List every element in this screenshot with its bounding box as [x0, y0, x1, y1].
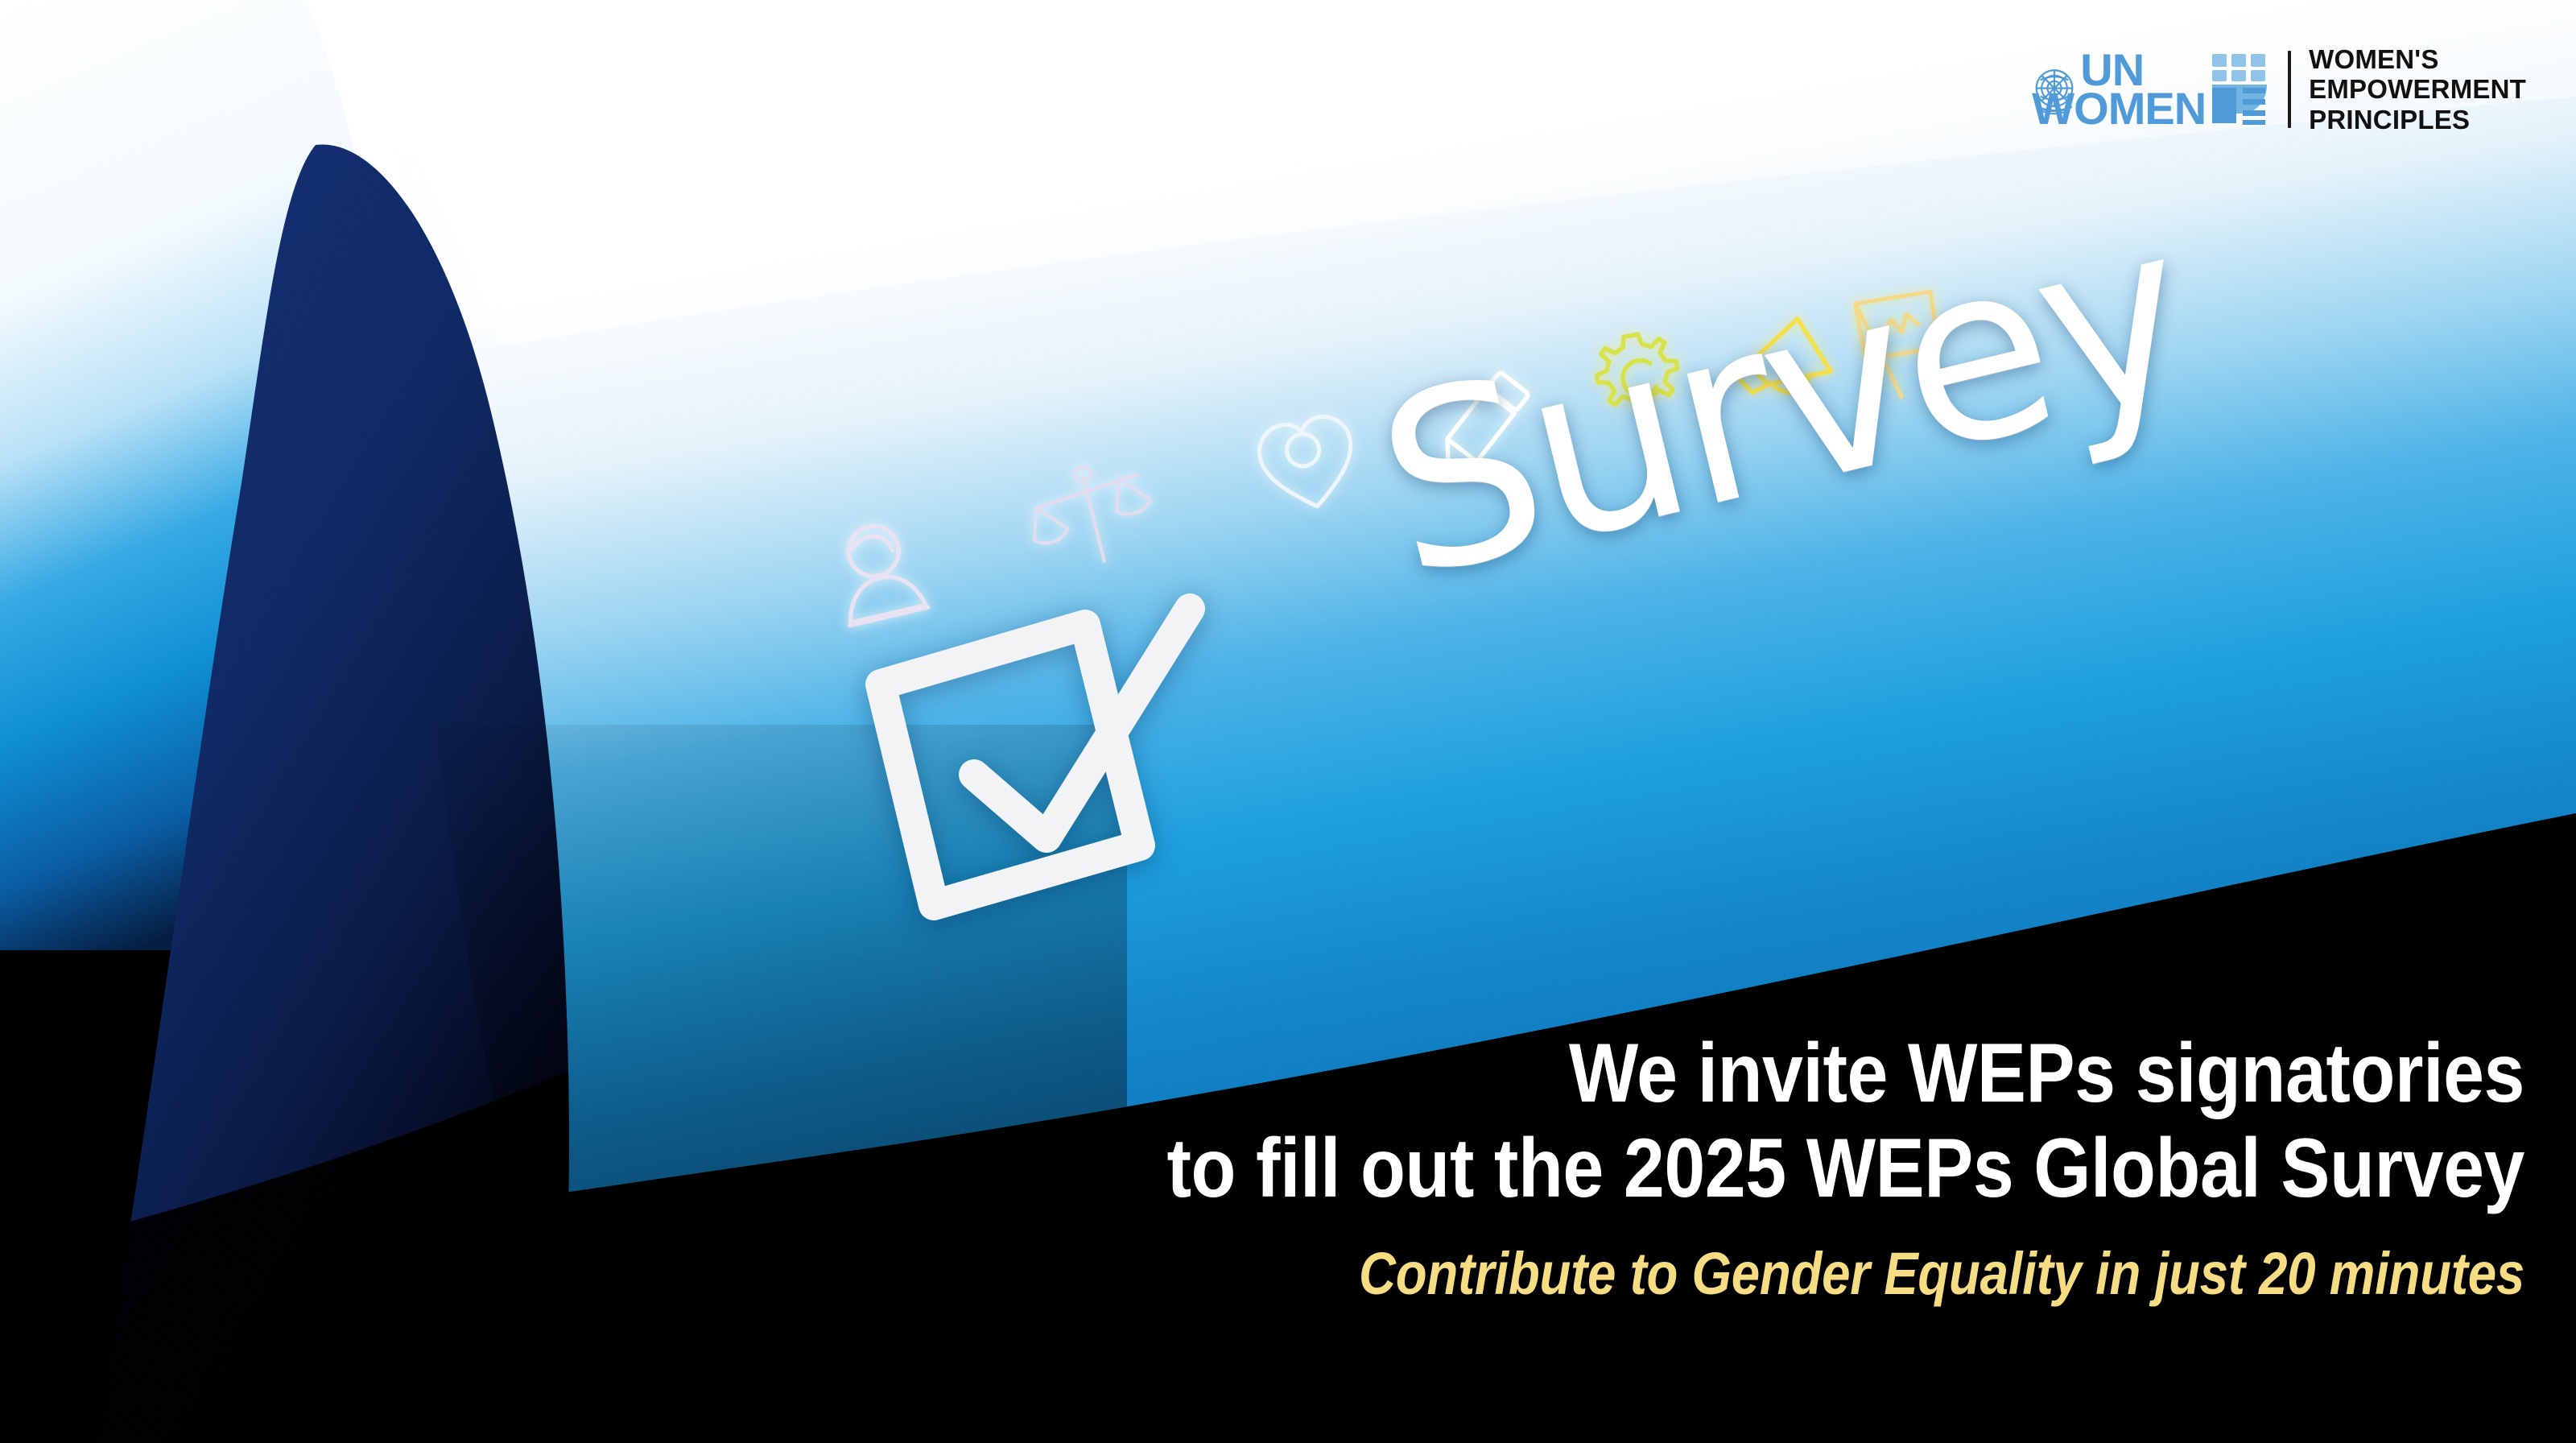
- headline-block: We invite WEPs signatories to fill out t…: [834, 1026, 2524, 1306]
- un-women-wordmark: UN WOMEN: [2083, 51, 2206, 128]
- un-women-logo: UN WOMEN: [2025, 51, 2270, 128]
- wep-line1: WOMEN'S: [2309, 44, 2526, 75]
- logo-divider: [2288, 51, 2291, 128]
- wep-line2: EMPOWERMENT: [2309, 74, 2526, 105]
- heart-icon: [1246, 401, 1370, 525]
- headline-subtitle: Contribute to Gender Equality in just 20…: [1071, 1241, 2524, 1306]
- wep-wordmark: WOMEN'S EMPOWERMENT PRINCIPLES: [2309, 44, 2526, 135]
- logo-lockup: UN WOMEN: [2025, 42, 2526, 137]
- wep-emblem-icon: [2209, 52, 2270, 126]
- headline-line-2: to fill out the 2025 WEPs Global Survey: [1037, 1121, 2524, 1217]
- survey-promo-banner: Survey UN WOMEN: [0, 0, 2576, 1443]
- checkbox-checked-icon: [853, 580, 1232, 954]
- headline-line-1: We invite WEPs signatories: [1037, 1026, 2524, 1122]
- scales-icon: [1018, 453, 1170, 594]
- wep-line3: PRINCIPLES: [2309, 105, 2526, 135]
- un-women-line2: WOMEN: [2032, 89, 2206, 128]
